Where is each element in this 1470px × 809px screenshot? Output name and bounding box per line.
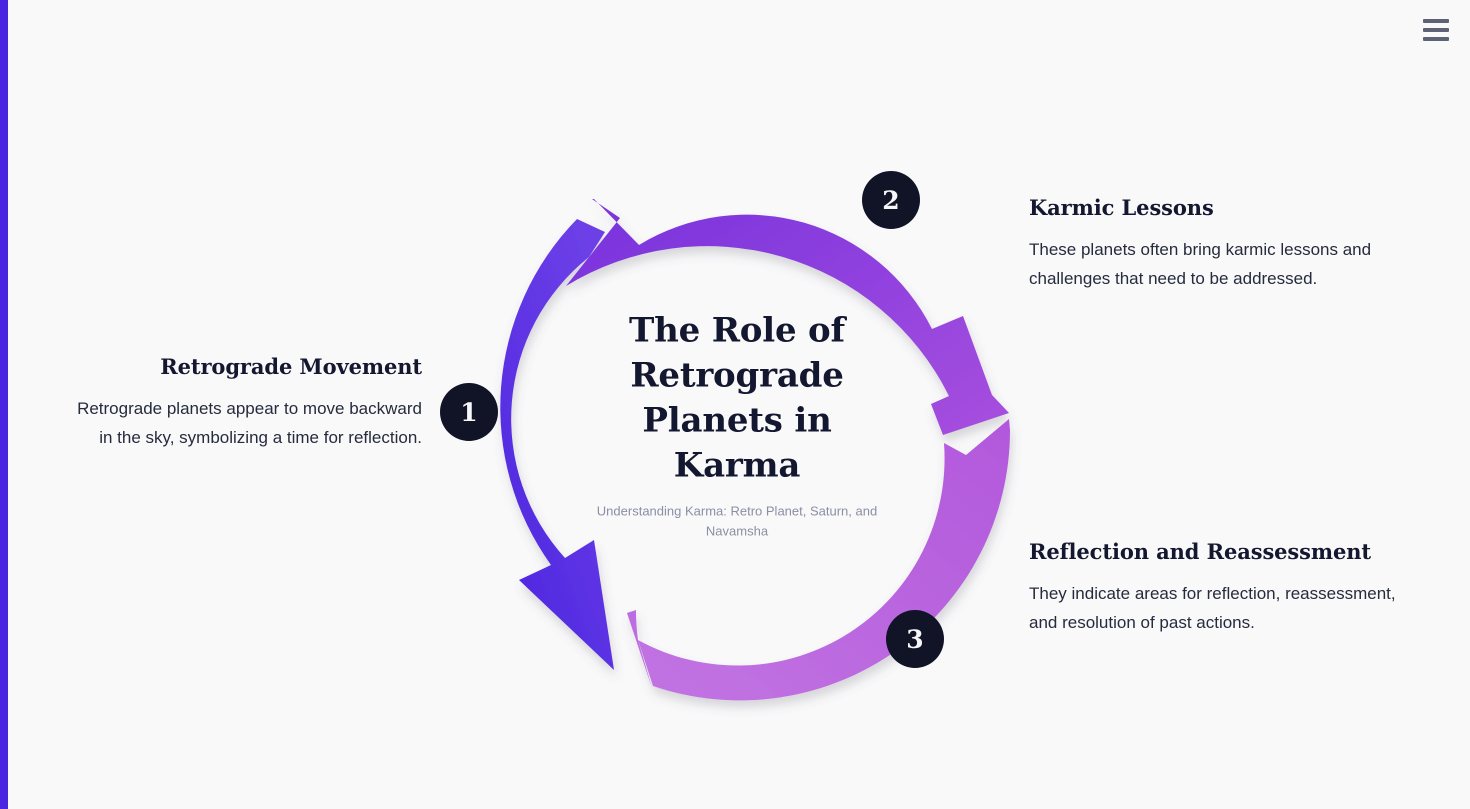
step-badge-2-number: 2 (882, 186, 899, 215)
callout-reflection-reassessment: Reflection and Reassessment They indicat… (1029, 538, 1419, 637)
hamburger-menu-icon[interactable] (1416, 14, 1456, 46)
callout-1-body: Retrograde planets appear to move backwa… (60, 394, 422, 452)
step-badge-1[interactable]: 1 (440, 383, 498, 441)
callout-3-title: Reflection and Reassessment (1029, 538, 1419, 566)
callout-2-title: Karmic Lessons (1029, 194, 1419, 222)
callout-3-body: They indicate areas for reflection, reas… (1029, 579, 1419, 637)
cycle-diagram: The Role of Retrograde Planets in Karma … (0, 0, 1470, 809)
cycle-segment-1[interactable] (500, 219, 614, 670)
callout-karmic-lessons: Karmic Lessons These planets often bring… (1029, 194, 1419, 293)
callout-1-title: Retrograde Movement (60, 353, 422, 381)
step-badge-2[interactable]: 2 (862, 171, 920, 229)
cycle-segment-3[interactable] (638, 419, 1010, 700)
step-badge-3-number: 3 (906, 625, 923, 654)
callout-2-body: These planets often bring karmic lessons… (1029, 235, 1419, 293)
step-badge-3[interactable]: 3 (886, 610, 944, 668)
callout-retrograde-movement: Retrograde Movement Retrograde planets a… (60, 353, 422, 452)
menu-bar-top (1423, 19, 1449, 23)
cycle-segment-2[interactable] (566, 199, 1009, 435)
menu-bar-middle (1423, 28, 1449, 32)
step-badge-1-number: 1 (460, 398, 477, 427)
menu-bar-bottom (1423, 37, 1449, 41)
left-accent-stripe (0, 0, 8, 809)
